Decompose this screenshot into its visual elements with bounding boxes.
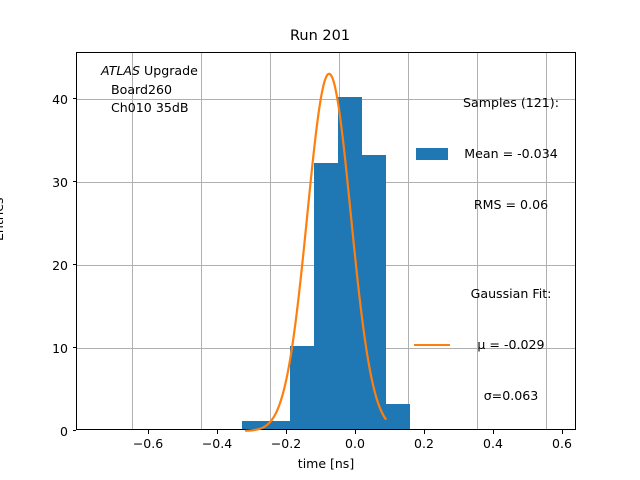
legend-fit-title: Gaussian Fit:	[456, 285, 566, 302]
legend-label-fit: Gaussian Fit: μ = -0.029 σ=0.063	[456, 251, 566, 438]
histogram-swatch-icon	[416, 148, 448, 160]
annotation-atlas-italic: ATLAS	[101, 63, 140, 78]
x-tick-label-0.0: 0.0	[325, 436, 385, 451]
legend-samples-mean: Mean = -0.034	[456, 145, 566, 162]
legend-patch-handle	[414, 141, 450, 167]
annotation-upgrade-text: Upgrade	[140, 63, 198, 78]
legend-fit-mu: μ = -0.029	[456, 336, 566, 353]
y-tick-label-0: 0	[28, 424, 68, 439]
legend-line-handle	[414, 332, 450, 358]
y-tick-label-40: 40	[28, 92, 68, 107]
chart-title: Run 201	[0, 28, 640, 44]
y-tick-label-20: 20	[28, 258, 68, 273]
legend-label-samples: Samples (121): Mean = -0.034 RMS = 0.06	[456, 60, 566, 247]
x-axis-label: time [ns]	[76, 456, 576, 471]
y-tick-label-30: 30	[28, 175, 68, 190]
legend-entry-samples: Samples (121): Mean = -0.034 RMS = 0.06	[414, 60, 566, 247]
x-tick-label--0.6: −0.6	[118, 436, 178, 451]
y-axis-label: Entries	[0, 197, 6, 241]
annotation-board: Board260	[101, 81, 198, 100]
y-tick-label-10: 10	[28, 341, 68, 356]
chart-legend: Samples (121): Mean = -0.034 RMS = 0.06 …	[414, 60, 566, 442]
legend-samples-title: Samples (121):	[456, 94, 566, 111]
atlas-annotation: ATLAS UpgradeBoard260Ch010 35dB	[101, 62, 198, 118]
legend-entry-fit: Gaussian Fit: μ = -0.029 σ=0.063	[414, 251, 566, 438]
legend-samples-rms: RMS = 0.06	[456, 196, 566, 213]
x-tick-label--0.4: −0.4	[187, 436, 247, 451]
annotation-channel: Ch010 35dB	[101, 99, 198, 118]
fit-line-swatch-icon	[414, 344, 450, 346]
figure-canvas: Run 201 0 10 20 30 40 −0.6 −0.4 −0.2 0.0…	[0, 0, 640, 480]
legend-fit-sigma: σ=0.063	[456, 387, 566, 404]
x-tick-label--0.2: −0.2	[256, 436, 316, 451]
y-tick-mark-0	[73, 430, 77, 431]
